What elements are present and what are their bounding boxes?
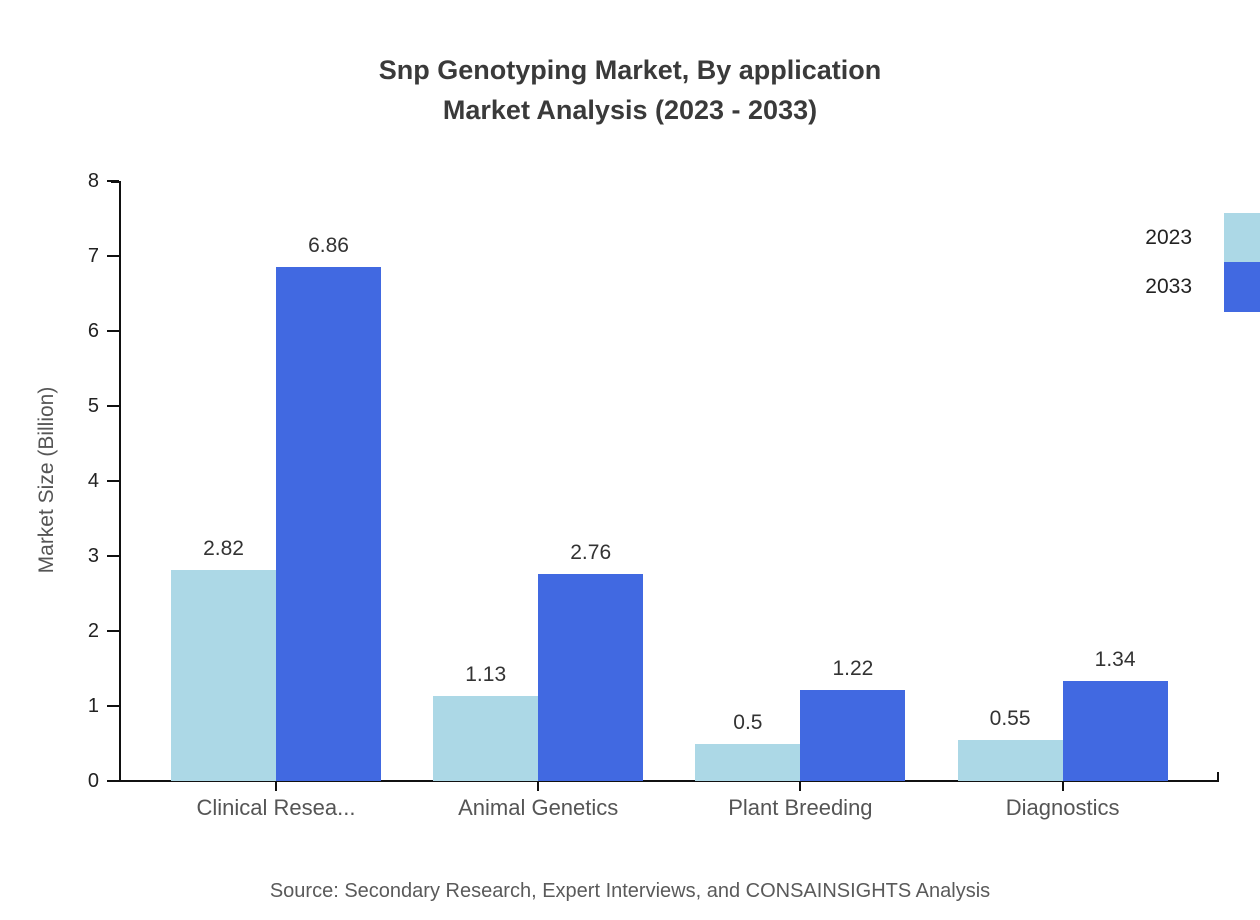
- y-axis-tick-label: 5: [57, 396, 99, 416]
- x-axis-tick: [1062, 780, 1064, 791]
- chart-title-line1: Snp Genotyping Market, By application: [379, 55, 882, 85]
- bar[interactable]: [171, 570, 276, 782]
- legend-label: 2033: [1145, 276, 1192, 298]
- legend-item[interactable]: 2033: [900, 262, 1224, 312]
- y-axis-tick: [107, 780, 119, 782]
- bar[interactable]: [538, 574, 643, 781]
- y-axis-tick-label: 1: [57, 696, 99, 716]
- y-axis-tick-label: 0: [57, 771, 99, 791]
- y-axis-tick-label: 4: [57, 471, 99, 491]
- y-axis-tick: [107, 405, 119, 407]
- x-axis-tick: [799, 780, 801, 791]
- y-axis-tick: [107, 630, 119, 632]
- x-axis-right-cap: [1217, 772, 1219, 782]
- y-axis-title: Market Size (Billion): [35, 330, 59, 630]
- chart-title: Snp Genotyping Market, By application Ma…: [0, 50, 1260, 130]
- bar[interactable]: [276, 267, 381, 782]
- x-axis-tick: [537, 780, 539, 791]
- y-axis-tick-label: 6: [57, 321, 99, 341]
- bar[interactable]: [800, 690, 905, 782]
- legend-item[interactable]: 2023: [900, 213, 1224, 263]
- bar[interactable]: [1063, 681, 1168, 782]
- legend-swatch: [1224, 213, 1260, 263]
- bar[interactable]: [695, 744, 800, 782]
- x-axis-category-label: Diagnostics: [903, 793, 1223, 823]
- chart-title-line2: Market Analysis (2023 - 2033): [0, 90, 1260, 130]
- legend-label: 2023: [1145, 227, 1192, 249]
- y-axis-tick-label: 2: [57, 621, 99, 641]
- bar-value-label: 1.34: [1018, 649, 1213, 671]
- bar[interactable]: [433, 696, 538, 781]
- y-axis-tick-label: 3: [57, 546, 99, 566]
- y-axis-tick-label: 7: [57, 246, 99, 266]
- y-axis-line: [119, 181, 121, 782]
- bar-value-label: 2.76: [493, 542, 688, 564]
- y-axis-tick: [107, 705, 119, 707]
- y-axis-tick: [107, 555, 119, 557]
- bar-value-label: 1.22: [755, 658, 950, 680]
- x-axis-tick: [275, 780, 277, 791]
- source-note: Source: Secondary Research, Expert Inter…: [0, 878, 1260, 904]
- y-axis-tick-label: 8: [57, 171, 99, 191]
- y-axis-tick: [107, 180, 119, 182]
- bar-value-label: 6.86: [231, 235, 426, 257]
- legend-swatch: [1224, 262, 1260, 312]
- bar[interactable]: [958, 740, 1063, 781]
- y-axis-tick: [107, 330, 119, 332]
- y-axis-tick: [107, 255, 119, 257]
- bar-chart: Snp Genotyping Market, By application Ma…: [0, 0, 1260, 920]
- y-axis-tick: [107, 480, 119, 482]
